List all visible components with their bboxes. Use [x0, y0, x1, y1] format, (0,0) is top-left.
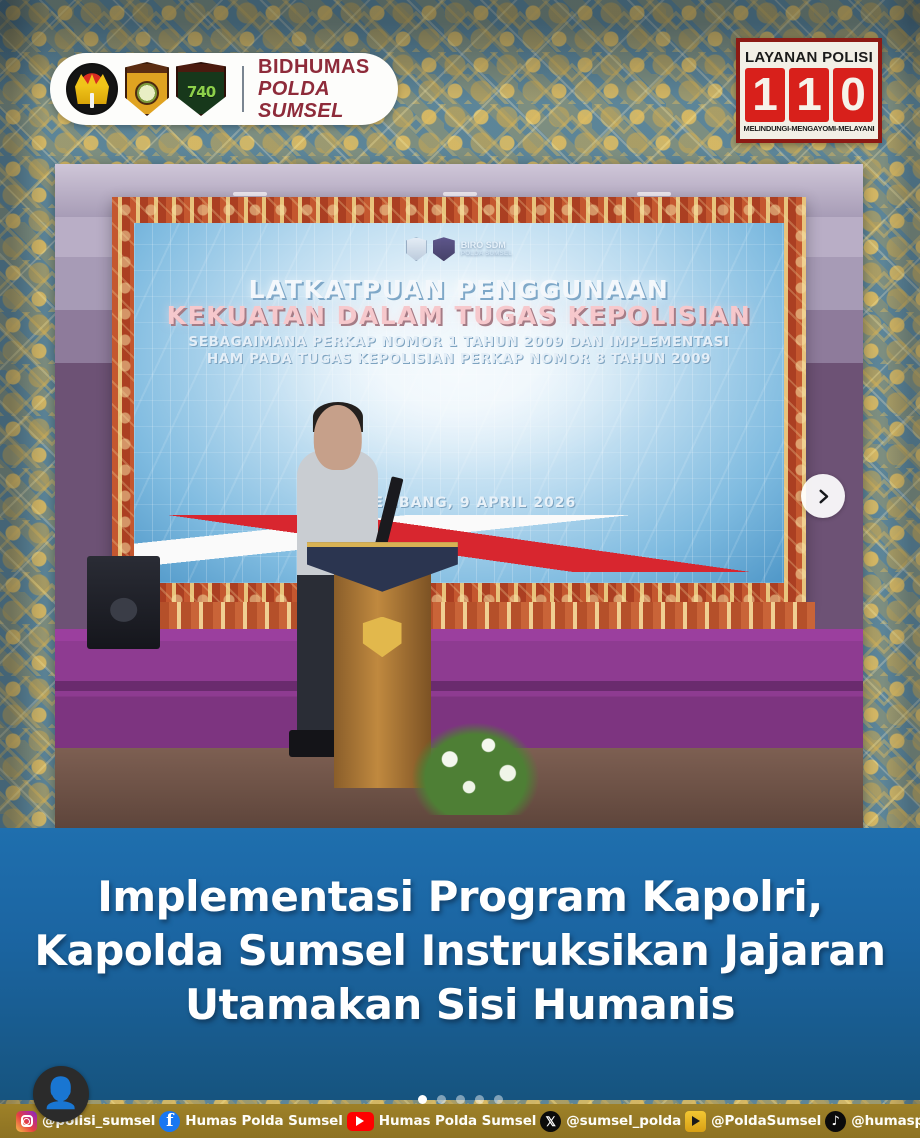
social-item-youtube[interactable]: Humas Polda Sumsel	[347, 1112, 537, 1131]
biro-sdm-logo: BIRO SDM POLDA SUMSEL	[406, 237, 512, 261]
instagram-icon	[16, 1111, 37, 1132]
badge-bottom-label: MELINDUNGI-MENGAYOMI-MELAYANI	[744, 124, 875, 133]
x-twitter-icon: 𝕏	[540, 1111, 561, 1132]
avatar[interactable]: 👤	[33, 1066, 89, 1122]
badge-digit-1: 1	[745, 68, 785, 122]
headline-line-1: Implementasi Program Kapolri,	[0, 870, 920, 924]
carousel-dot-3[interactable]	[456, 1095, 465, 1104]
screen-subtitle: SEBAGAIMANA PERKAP NOMOR 1 TAHUN 2009 DA…	[153, 334, 765, 367]
songket-screen-frame: BIRO SDM POLDA SUMSEL LATKATPUAN PENGGUN…	[112, 197, 807, 609]
loudspeaker	[87, 556, 160, 649]
tiktok-icon: ♪	[825, 1111, 846, 1132]
badge-digit-2: 1	[789, 68, 829, 122]
social-item-facebook[interactable]: f Humas Polda Sumsel	[159, 1111, 343, 1132]
brand-line-2: POLDA SUMSEL	[258, 78, 382, 122]
brand-line-1: BIDHUMAS	[258, 56, 382, 78]
screen-title-line-1: LATKATPUAN PENGGUNAAN	[153, 277, 765, 303]
social-handles-bar: @polisi_sumsel f Humas Polda Sumsel Huma…	[0, 1104, 920, 1138]
screen-subtitle-line-2: HAM PADA TUGAS KEPOLISIAN PERKAP NOMOR 8…	[153, 351, 765, 367]
hut-740-palembang-emblem-icon: 740	[176, 62, 226, 116]
screen-title: LATKATPUAN PENGGUNAAN KEKUATAN DALAM TUG…	[153, 277, 765, 329]
chevron-right-icon	[815, 488, 832, 505]
youtube-handle: Humas Polda Sumsel	[379, 1113, 537, 1129]
carousel-photo[interactable]: BIRO SDM POLDA SUMSEL LATKATPUAN PENGGUN…	[55, 164, 863, 828]
caption-band: Implementasi Program Kapolri, Kapolda Su…	[0, 828, 920, 1100]
screen-event-date: PALEMBANG, 9 APRIL 2026	[134, 495, 785, 511]
post-headline: Implementasi Program Kapolri, Kapolda Su…	[0, 870, 920, 1031]
biro-line-2: POLDA SUMSEL	[461, 251, 512, 258]
red-white-ribbon-graphic	[134, 515, 785, 573]
social-item-app[interactable]: @PoldaSumsel	[685, 1111, 821, 1132]
pill-divider	[242, 66, 244, 112]
polda-shield-icon	[433, 237, 455, 261]
social-item-tiktok[interactable]: ♪ @humaspoldasumsel	[825, 1111, 920, 1132]
hut-740-label: 740	[176, 62, 226, 116]
led-presentation-screen: BIRO SDM POLDA SUMSEL LATKATPUAN PENGGUN…	[134, 223, 785, 583]
headline-line-3: Utamakan Sisi Humanis	[0, 978, 920, 1032]
carousel-dot-2[interactable]	[437, 1095, 446, 1104]
instagram-carousel-post: 740 BIDHUMAS POLDA SUMSEL LAYANAN POLISI…	[0, 0, 920, 1138]
headline-line-2: Kapolda Sumsel Instruksikan Jajaran	[0, 924, 920, 978]
emblem-group: 740	[66, 62, 226, 116]
emergency-110-badge: LAYANAN POLISI 1 1 0 MELINDUNGI-MENGAYOM…	[736, 38, 882, 143]
screen-title-line-2: KEKUATAN DALAM TUGAS KEPOLISIAN	[153, 303, 765, 329]
polda-sumsel-shield-icon	[125, 62, 169, 116]
tribrata-police-emblem	[66, 63, 118, 115]
badge-digit-3: 0	[833, 68, 873, 122]
biro-sdm-text: BIRO SDM POLDA SUMSEL	[461, 241, 512, 257]
badge-top-label: LAYANAN POLISI	[745, 49, 873, 66]
biro-line-1: BIRO SDM	[461, 240, 506, 250]
biro-shield-icon	[406, 237, 427, 261]
app-play-icon	[685, 1111, 706, 1132]
carousel-dots	[0, 1095, 920, 1104]
social-item-x[interactable]: 𝕏 @sumsel_polda	[540, 1111, 681, 1132]
social-item-instagram[interactable]: @polisi_sumsel	[16, 1111, 155, 1132]
carousel-dot-5[interactable]	[494, 1095, 503, 1104]
flower-arrangement	[411, 722, 540, 815]
carousel-dot-1[interactable]	[418, 1095, 427, 1104]
brand-header-pill: 740 BIDHUMAS POLDA SUMSEL	[50, 53, 398, 125]
screen-subtitle-line-1: SEBAGAIMANA PERKAP NOMOR 1 TAHUN 2009 DA…	[153, 334, 765, 350]
youtube-icon	[347, 1112, 374, 1131]
facebook-handle: Humas Polda Sumsel	[185, 1113, 343, 1129]
person-icon: 👤	[42, 1079, 79, 1109]
x-handle: @sumsel_polda	[566, 1113, 681, 1129]
carousel-dot-4[interactable]	[475, 1095, 484, 1104]
brand-name: BIDHUMAS POLDA SUMSEL	[258, 56, 382, 122]
app-handle: @PoldaSumsel	[711, 1113, 821, 1129]
tiktok-handle: @humaspoldasumsel	[851, 1113, 920, 1129]
next-slide-button[interactable]	[801, 474, 845, 518]
facebook-icon: f	[159, 1111, 180, 1132]
badge-digits: 1 1 0	[745, 68, 873, 122]
